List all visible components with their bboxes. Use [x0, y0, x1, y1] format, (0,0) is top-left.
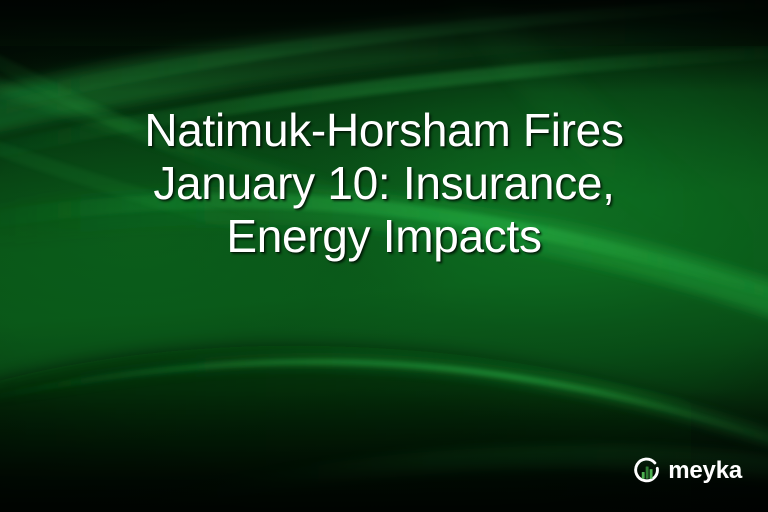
brand-wordmark: meyka	[668, 459, 742, 483]
title-line-3: Energy Impacts	[46, 210, 722, 263]
ring-bar-chart-icon	[632, 456, 662, 486]
brand-logo[interactable]: meyka	[632, 456, 742, 486]
page-title: Natimuk-Horsham Fires January 10: Insura…	[0, 104, 768, 263]
cover-image: Natimuk-Horsham Fires January 10: Insura…	[0, 0, 768, 512]
title-line-1: Natimuk-Horsham Fires	[46, 104, 722, 157]
title-line-2: January 10: Insurance,	[46, 157, 722, 210]
